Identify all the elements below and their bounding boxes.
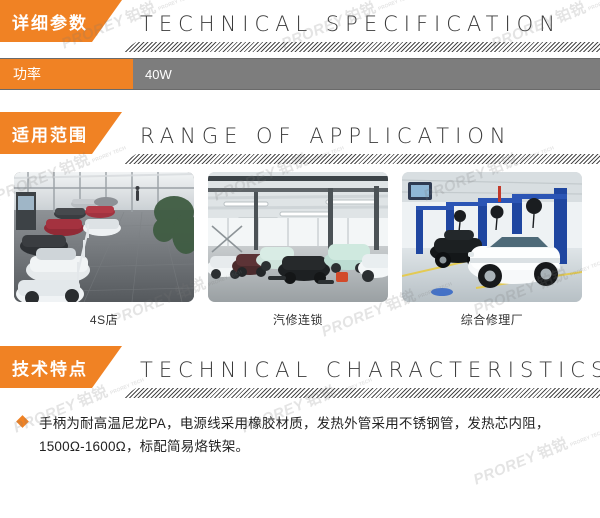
list-item: 汽修连锁	[208, 172, 388, 328]
list-item: 4S店	[14, 172, 194, 328]
section-tab-detailed-parameters: 详细参数	[0, 0, 122, 42]
section-header-technical-characteristics: 技术特点 TECHNICAL CHARACTERISTICS	[0, 346, 600, 398]
spec-row-label: 功率	[0, 59, 133, 89]
gallery-caption: 汽修连锁	[208, 311, 388, 328]
photo-general-service-garage	[402, 172, 582, 302]
feature-text: 手柄为耐高温尼龙PA，电源线采用橡胶材质，发热外管采用不锈钢管，发热芯内阻，15…	[39, 412, 582, 458]
photo-car-dealership-showroom	[14, 172, 194, 302]
section-english-title: TECHNICAL CHARACTERISTICS	[140, 350, 600, 390]
application-gallery: 4S店	[0, 164, 600, 328]
technical-features-list: 手柄为耐高温尼龙PA，电源线采用橡胶材质，发热外管采用不锈钢管，发热芯内阻，15…	[0, 398, 600, 458]
section-tab-label: 适用范围	[12, 121, 88, 146]
dealership-showroom-illustration	[14, 172, 194, 302]
diamond-bullet-icon	[16, 415, 29, 428]
section-tab-application-range: 适用范围	[0, 112, 122, 154]
section-header-technical-specification: 详细参数 TECHNICAL SPECIFICATION	[0, 0, 600, 52]
table-row: 功率 40W	[0, 58, 600, 90]
repair-workshop-illustration	[208, 172, 388, 302]
spec-row-value: 40W	[133, 67, 172, 82]
section-tab-label: 技术特点	[12, 355, 88, 380]
section-tab-label: 详细参数	[12, 9, 88, 34]
section-tab-technical-features: 技术特点	[0, 346, 122, 388]
gallery-caption: 4S店	[14, 311, 194, 328]
section-english-title: RANGE OF APPLICATION	[140, 116, 512, 156]
specification-table: 功率 40W	[0, 58, 600, 90]
gallery-caption: 综合修理厂	[402, 311, 582, 328]
section-english-title: TECHNICAL SPECIFICATION	[140, 4, 561, 44]
photo-auto-repair-chain-workshop	[208, 172, 388, 302]
service-garage-illustration	[402, 172, 582, 302]
list-item: 综合修理厂	[402, 172, 582, 328]
section-header-range-of-application: 适用范围 RANGE OF APPLICATION	[0, 112, 600, 164]
